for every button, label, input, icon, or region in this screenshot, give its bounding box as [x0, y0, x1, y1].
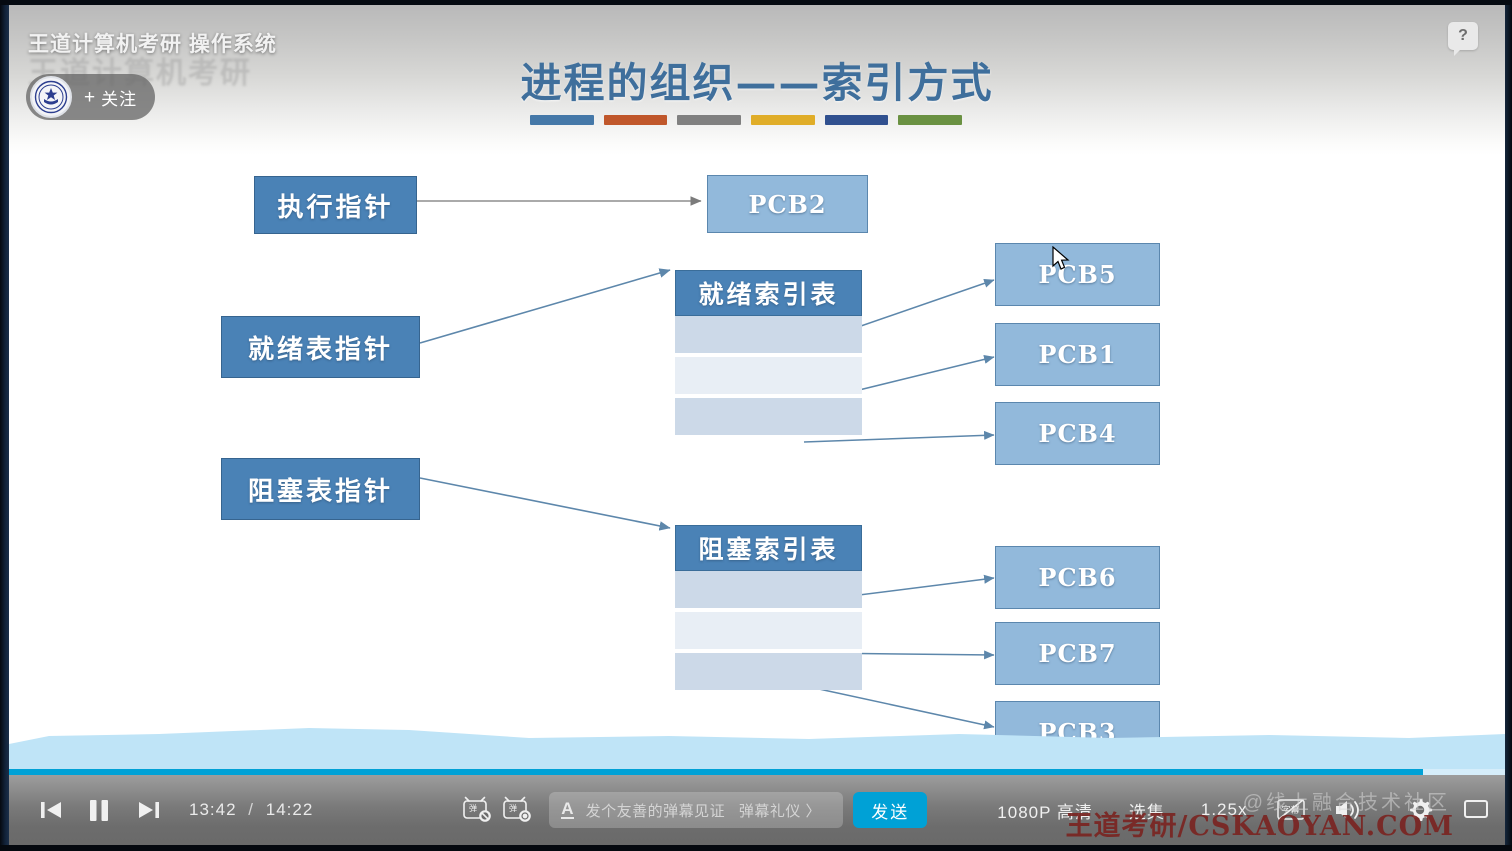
block-index-row-1 — [675, 571, 862, 608]
title-bar-3 — [677, 115, 741, 125]
svg-text:弹: 弹 — [509, 803, 517, 813]
frame-edge-bottom — [0, 845, 1512, 851]
previous-episode-button[interactable] — [37, 788, 65, 832]
danmaku-style-icon[interactable]: A — [561, 801, 573, 819]
node-pcb1: PCB1 — [995, 323, 1160, 386]
frame-edge-left — [0, 0, 9, 851]
title-bar-1 — [530, 115, 594, 125]
ready-index-table: 就绪索引表 — [675, 270, 862, 435]
video-title: 王道计算机考研 操作系统 — [28, 28, 277, 58]
block-index-row-3 — [675, 653, 862, 690]
node-ready-pointer: 就绪表指针 — [221, 316, 420, 378]
mouse-cursor — [1052, 246, 1072, 279]
danmaku-off-icon[interactable]: 弹 — [461, 790, 491, 830]
node-pcb6: PCB6 — [995, 546, 1160, 609]
follow-label: 关注 — [101, 85, 137, 110]
ready-index-row-3 — [675, 398, 862, 435]
video-player: 进程的组织——索引方式 — [0, 0, 1512, 851]
node-block-pointer: 阻塞表指针 — [221, 458, 420, 520]
pause-button[interactable] — [85, 788, 113, 832]
node-pcb4: PCB4 — [995, 402, 1160, 465]
send-danmaku-button[interactable]: 发送 — [853, 792, 927, 828]
node-pcb7: PCB7 — [995, 622, 1160, 685]
web-fullscreen-icon[interactable] — [1461, 790, 1491, 830]
help-glyph: ? — [1458, 27, 1468, 45]
title-bar-5 — [825, 115, 889, 125]
current-time: 13:42 — [189, 800, 237, 819]
title-accent-bars — [530, 115, 962, 125]
ready-index-row-1 — [675, 316, 862, 353]
channel-avatar — [30, 76, 72, 118]
ready-index-row-2 — [675, 357, 862, 394]
progress-bar[interactable] — [9, 769, 1505, 775]
node-exec-pointer: 执行指针 — [254, 176, 417, 234]
next-episode-button[interactable] — [135, 788, 163, 832]
node-pcb2: PCB2 — [707, 175, 868, 233]
ready-index-table-header: 就绪索引表 — [675, 270, 862, 316]
time-display: 13:42 / 14:22 — [189, 800, 313, 820]
watermark-brand: 王道考研/CSKAOYAN.COM — [1066, 804, 1454, 843]
time-separator: / — [248, 800, 254, 819]
help-icon[interactable]: ? — [1448, 22, 1478, 50]
title-bar-2 — [604, 115, 668, 125]
total-time: 14:22 — [266, 800, 314, 819]
danmaku-input[interactable]: A 发个友善的弹幕见证ᅠ弹幕礼仪 〉 — [549, 792, 843, 828]
frame-edge-right — [1505, 0, 1512, 851]
title-bar-6 — [898, 115, 962, 125]
title-bar-4 — [751, 115, 815, 125]
progress-played — [9, 769, 1423, 775]
block-index-row-2 — [675, 612, 862, 649]
block-index-table-header: 阻塞索引表 — [675, 525, 862, 571]
svg-text:弹: 弹 — [469, 803, 477, 813]
frame-edge-top — [0, 0, 1512, 5]
danmaku-on-icon[interactable]: 弹 — [501, 790, 531, 830]
slide-canvas: 进程的组织——索引方式 — [9, 5, 1505, 780]
follow-plus-icon: + — [84, 88, 95, 107]
follow-button[interactable]: + 关注 — [26, 74, 155, 120]
node-pcb5: PCB5 — [995, 243, 1160, 306]
danmaku-placeholder: 发个友善的弹幕见证ᅠ弹幕礼仪 〉 — [586, 800, 821, 821]
block-index-table: 阻塞索引表 — [675, 525, 862, 690]
